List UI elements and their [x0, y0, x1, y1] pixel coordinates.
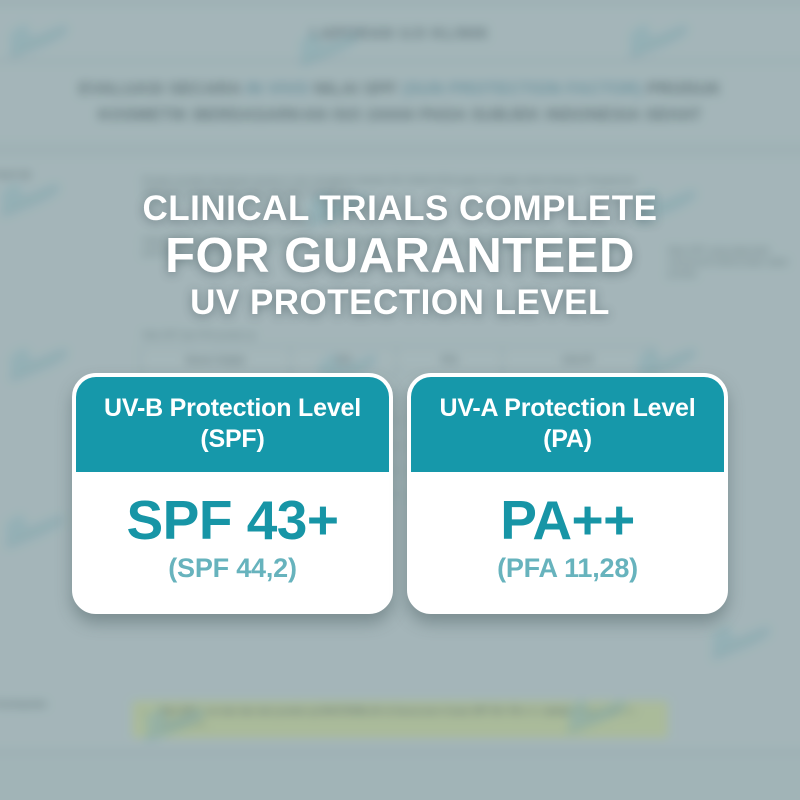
headline-line-1: CLINICAL TRIALS COMPLETE [0, 190, 800, 228]
headline-line-2: FOR GUARANTEED [0, 230, 800, 282]
card-uvb-protection: UV-B Protection Level (SPF) SPF 43+ (SPF… [72, 373, 393, 614]
protection-cards: UV-B Protection Level (SPF) SPF 43+ (SPF… [72, 373, 728, 614]
headline-line-3: UV PROTECTION LEVEL [0, 284, 800, 322]
card-uva-protection: UV-A Protection Level (PA) PA++ (PFA 11,… [407, 373, 728, 614]
card-uva-value: PA++ [421, 490, 714, 550]
card-uvb-subvalue: (SPF 44,2) [86, 552, 379, 584]
card-uva-title: UV-A Protection Level (PA) [411, 377, 724, 472]
card-uva-body: PA++ (PFA 11,28) [411, 472, 724, 610]
card-uva-subvalue: (PFA 11,28) [421, 552, 714, 584]
card-uvb-body: SPF 43+ (SPF 44,2) [76, 472, 389, 610]
card-uvb-value: SPF 43+ [86, 490, 379, 550]
headline: CLINICAL TRIALS COMPLETE FOR GUARANTEED … [0, 190, 800, 322]
foreground-content: CLINICAL TRIALS COMPLETE FOR GUARANTEED … [0, 0, 800, 800]
promo-graphic: LAPORAN UJI KLINIK EVALUASI SECARA IN VI… [0, 0, 800, 800]
card-uvb-title: UV-B Protection Level (SPF) [76, 377, 389, 472]
